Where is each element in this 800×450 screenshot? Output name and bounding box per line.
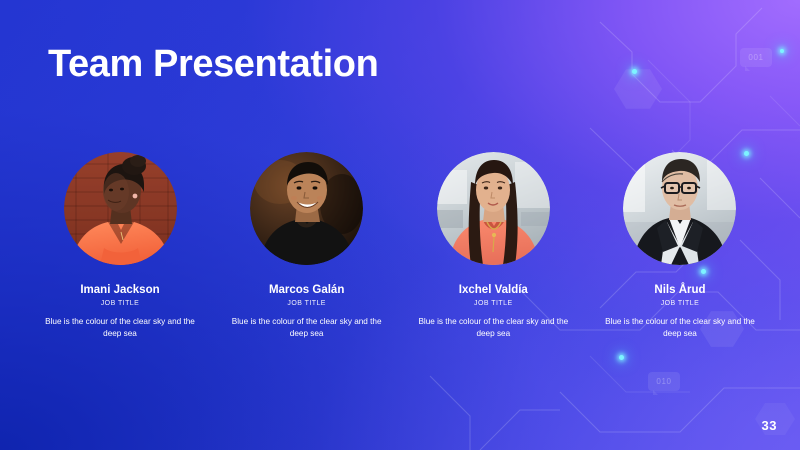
member-name: Marcos Galán — [269, 284, 344, 298]
member-bio: Blue is the colour of the clear sky and … — [232, 316, 382, 341]
team-member-list: Imani Jackson JOB TITLE Blue is the colo… — [40, 152, 760, 340]
avatar — [250, 152, 363, 265]
member-name: Ixchel Valdía — [459, 284, 528, 298]
page-title: Team Presentation — [48, 44, 378, 86]
avatar — [64, 152, 177, 265]
glow-dot-accent — [632, 69, 637, 74]
presentation-slide: 001 010 Team Presentation — [0, 0, 800, 450]
member-bio: Blue is the colour of the clear sky and … — [418, 316, 568, 341]
member-name: Imani Jackson — [80, 284, 159, 298]
glow-dot-accent — [619, 355, 624, 360]
member-role: JOB TITLE — [474, 300, 513, 307]
member-name: Nils Årud — [654, 284, 705, 298]
member-role: JOB TITLE — [101, 300, 140, 307]
member-role: JOB TITLE — [287, 300, 326, 307]
team-member-card: Ixchel Valdía JOB TITLE Blue is the colo… — [413, 152, 573, 340]
avatar — [623, 152, 736, 265]
tag-marker-010: 010 — [648, 372, 680, 391]
hexagon-accent — [614, 68, 662, 110]
tag-marker-001: 001 — [740, 48, 772, 67]
member-bio: Blue is the colour of the clear sky and … — [605, 316, 755, 341]
team-member-card: Marcos Galán JOB TITLE Blue is the colou… — [227, 152, 387, 340]
avatar — [437, 152, 550, 265]
page-number: 33 — [762, 418, 777, 433]
glow-dot-accent — [780, 49, 784, 53]
member-role: JOB TITLE — [661, 300, 700, 307]
member-bio: Blue is the colour of the clear sky and … — [45, 316, 195, 341]
team-member-card: Nils Årud JOB TITLE Blue is the colour o… — [600, 152, 760, 340]
team-member-card: Imani Jackson JOB TITLE Blue is the colo… — [40, 152, 200, 340]
